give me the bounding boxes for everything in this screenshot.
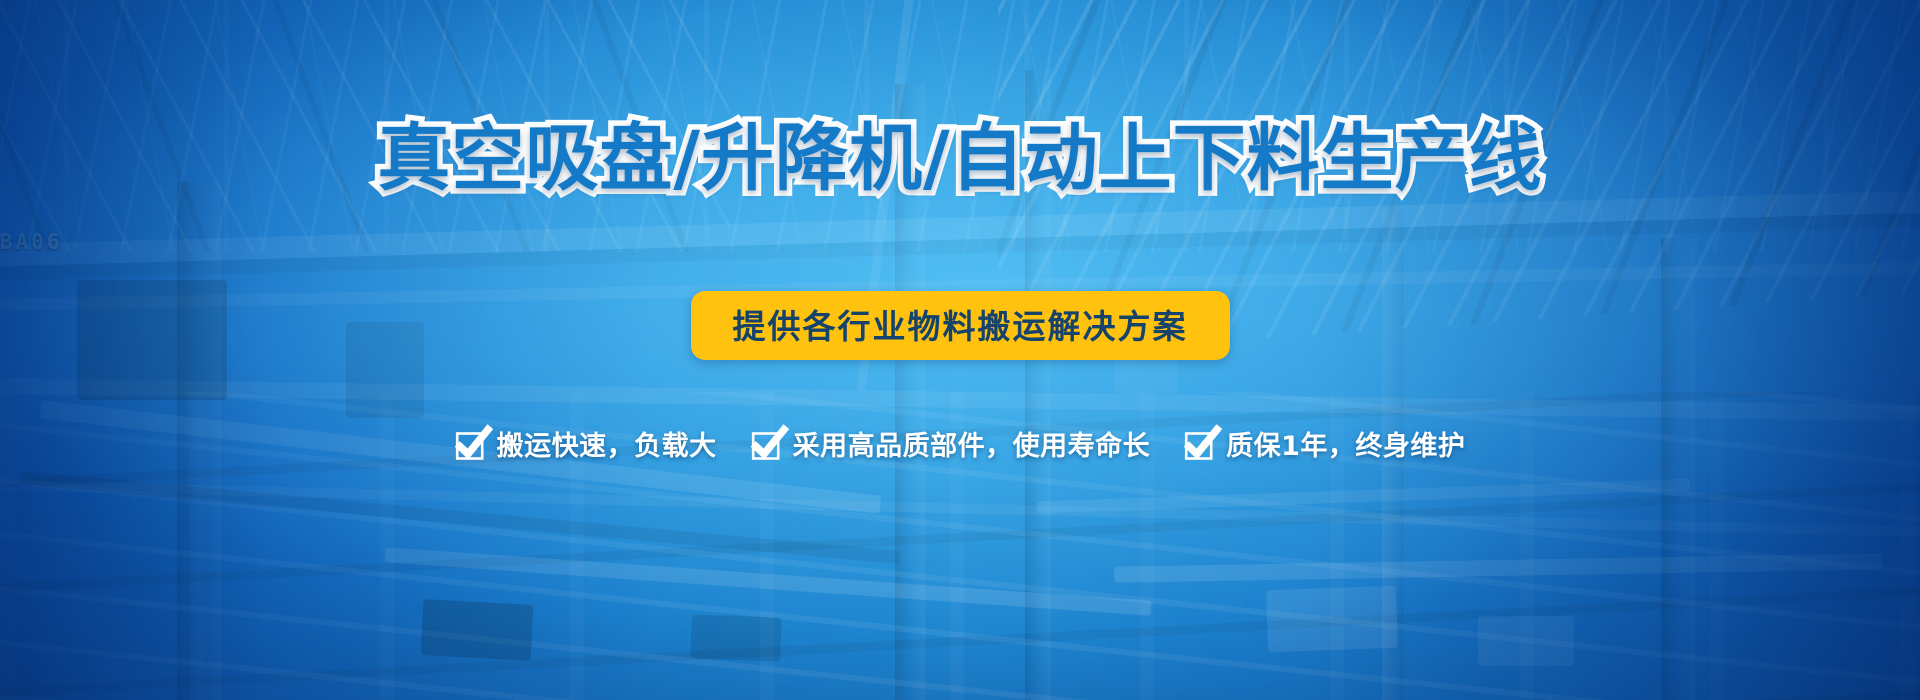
feature-label: 搬运快速，负载大 [497, 424, 717, 463]
banner-content: 真空吸盘/升降机/自动上下料生产线 提供各行业物料搬运解决方案 搬运快速，负载大 [0, 0, 1920, 700]
feature-label: 质保1年，终身维护 [1226, 424, 1465, 463]
tagline-badge: 提供各行业物料搬运解决方案 [691, 291, 1230, 360]
checkbox-checked-icon [1184, 427, 1218, 461]
banner-headline: 真空吸盘/升降机/自动上下料生产线 [0, 122, 1920, 195]
feature-item-3: 质保1年，终身维护 [1184, 424, 1465, 463]
feature-label: 采用高品质部件，使用寿命长 [793, 424, 1151, 463]
checkbox-checked-icon [455, 427, 489, 461]
feature-list: 搬运快速，负载大 采用高品质部件，使用寿命长 [0, 424, 1920, 463]
promo-banner: BA06 真空吸盘/升降机/自动上下料生产线 提供各行业物料搬运解决方案 搬运快… [0, 0, 1920, 700]
checkbox-checked-icon [751, 427, 785, 461]
feature-item-1: 搬运快速，负载大 [455, 424, 717, 463]
tagline-row: 提供各行业物料搬运解决方案 [0, 291, 1920, 360]
feature-item-2: 采用高品质部件，使用寿命长 [751, 424, 1151, 463]
